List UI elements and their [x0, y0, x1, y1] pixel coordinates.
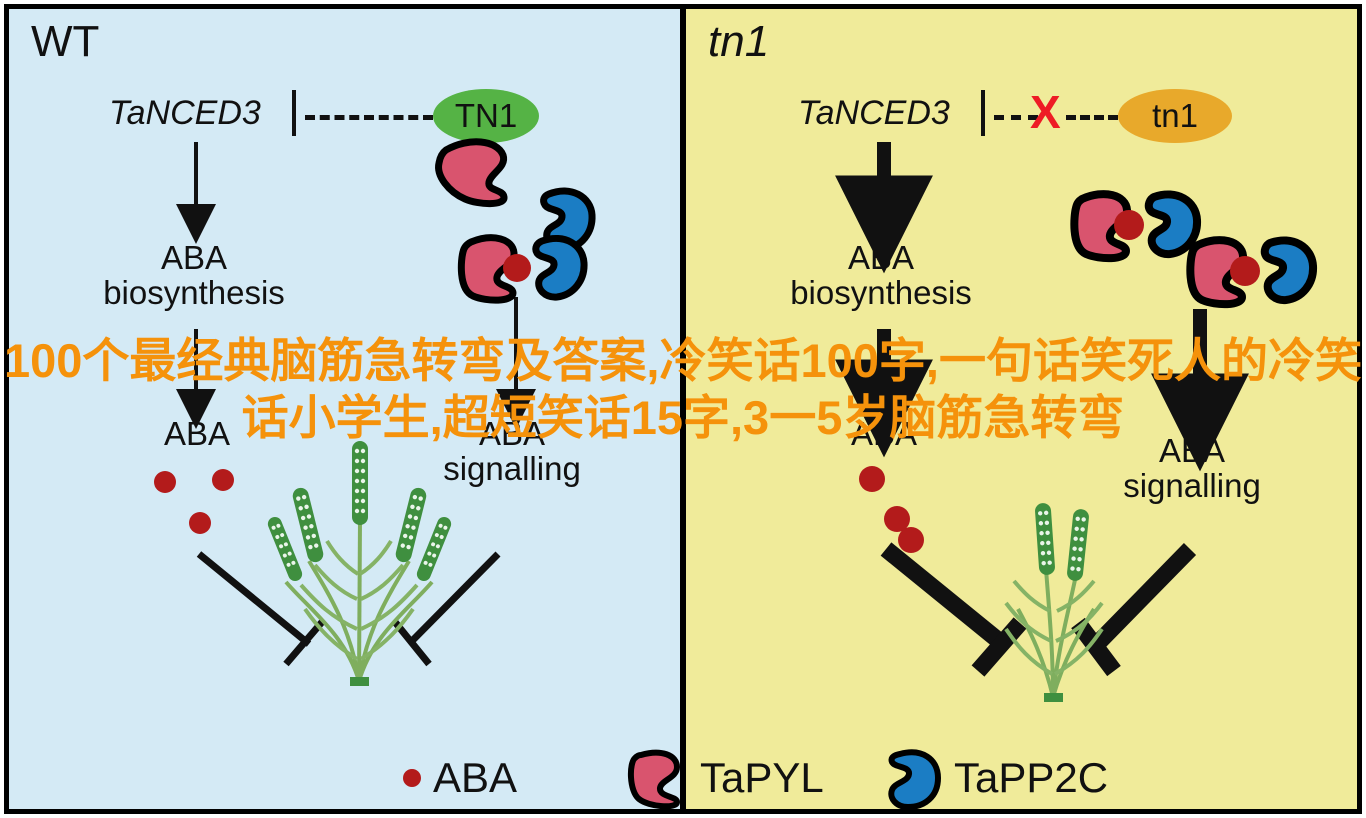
- legend-label-tapyl: TaPYL: [700, 754, 824, 802]
- wt-inhibition-left: [199, 554, 322, 664]
- tn1-aba-in-complex-1: [1114, 210, 1144, 240]
- tn1-tapp2c-bound-1: [1149, 194, 1197, 254]
- tn1-aba-in-complex-2: [1230, 256, 1260, 286]
- wt-inhibition-right: [395, 554, 498, 664]
- wt-wheat-plant: [266, 441, 453, 686]
- panel-wt: WT TaNCED3 TN1 ABA biosynthesis ABA ABA …: [4, 4, 683, 814]
- legend-label-tapyl-wrap: TaPYL: [700, 754, 824, 802]
- tn1-diagram-overlay: [686, 9, 1362, 814]
- legend-item-aba: ABA: [403, 754, 517, 802]
- tn1-wheat-plant: [1006, 503, 1102, 702]
- legend-item-tapyl: [627, 747, 683, 809]
- wt-tapyl-unbound: [439, 142, 504, 204]
- legend-label-aba: ABA: [433, 754, 517, 802]
- wt-aba-in-complex: [503, 254, 531, 282]
- tapyl-blob-icon: [627, 747, 683, 809]
- legend-label-tapp2c: TaPP2C: [954, 754, 1108, 802]
- wt-tapp2c-bound: [536, 238, 584, 297]
- legend-item-tapp2c: TaPP2C: [884, 747, 1108, 809]
- aba-dot-icon: [403, 769, 421, 787]
- wt-diagram-overlay: [9, 9, 683, 814]
- tn1-wheat-spike: [1035, 503, 1090, 582]
- tn1-tapp2c-bound-2: [1265, 240, 1313, 300]
- panel-tn1: tn1 TaNCED3 X tn1 ABA biosynthesis ABA A…: [683, 4, 1362, 814]
- figure-root: WT TaNCED3 TN1 ABA biosynthesis ABA ABA …: [0, 0, 1366, 818]
- tapp2c-blob-icon: [884, 747, 942, 809]
- tn1-inhibition-left: [886, 549, 1020, 671]
